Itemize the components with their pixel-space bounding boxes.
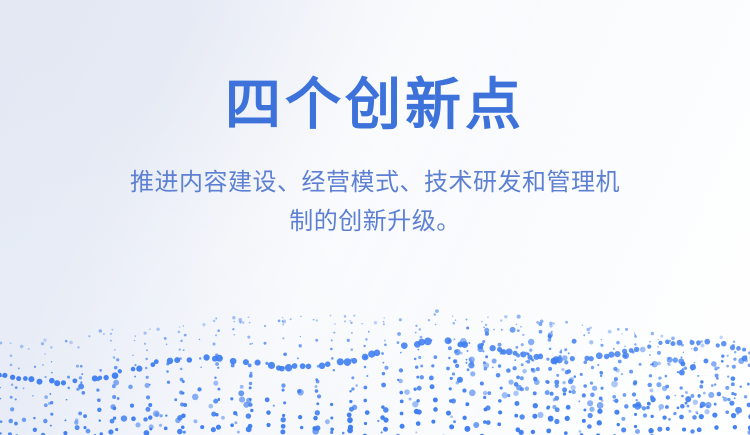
subtitle-line-2: 制的创新升级。 (95, 202, 655, 241)
subtitle-line-1: 推进内容建设、经营模式、技术研发和管理机 (95, 163, 655, 202)
dotted-wave-mesh (0, 285, 750, 435)
text-block: 四个创新点 推进内容建设、经营模式、技术研发和管理机 制的创新升级。 (0, 0, 750, 240)
subtitle-paragraph: 推进内容建设、经营模式、技术研发和管理机 制的创新升级。 (95, 137, 655, 241)
page-title: 四个创新点 (0, 0, 750, 137)
slide-canvas: 四个创新点 推进内容建设、经营模式、技术研发和管理机 制的创新升级。 (0, 0, 750, 435)
